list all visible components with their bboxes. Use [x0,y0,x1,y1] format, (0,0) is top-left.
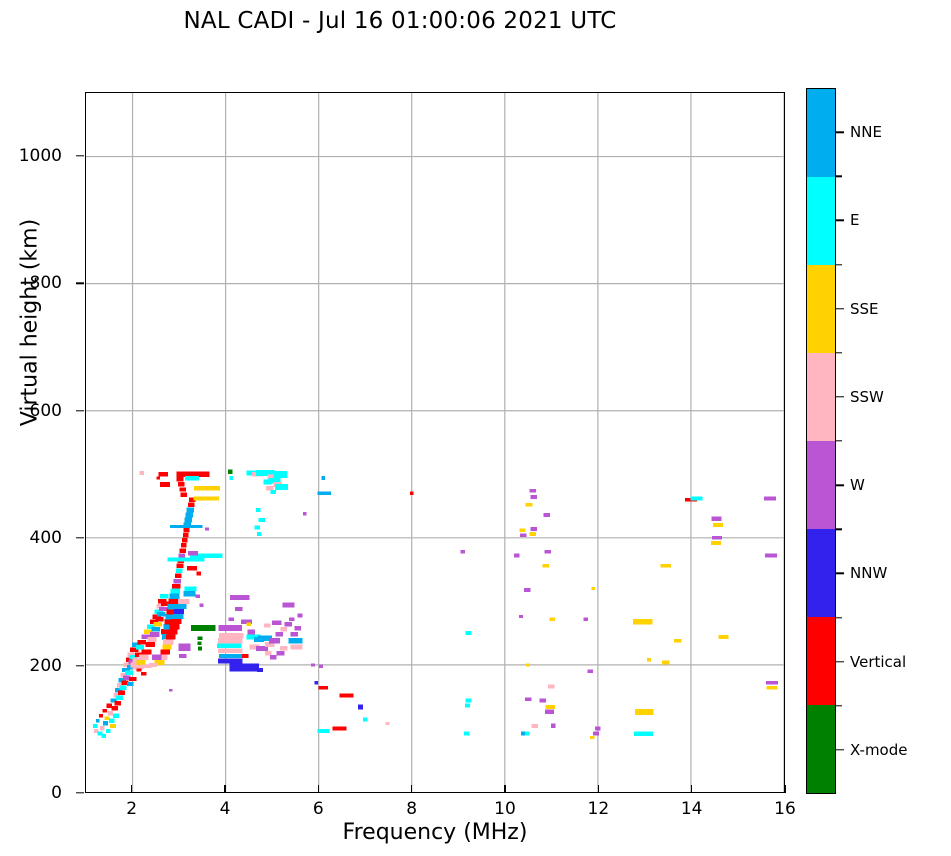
x-tick-label: 8 [406,799,417,819]
echo-mark [188,503,195,507]
x-tick-mark [224,785,225,793]
echo-mark [314,681,318,684]
colorbar-tick [836,220,844,221]
echo-mark [311,663,315,666]
echo-mark [102,709,107,713]
echo-mark [514,554,520,558]
x-tick-mark [784,785,785,793]
echo-mark [464,732,470,736]
echo-mark [179,553,186,557]
colorbar-label-nne: NNE [850,123,882,141]
echo-mark [583,617,588,621]
colorbar-boundary-tick [836,440,842,441]
echo-mark [289,617,295,621]
echo-mark [102,734,106,738]
echo-mark [275,632,282,636]
echo-mark [156,476,160,479]
echo-mark [257,532,262,536]
echo-mark [175,574,182,578]
echo-mark [141,664,151,668]
echo-mark [187,566,197,570]
y-tick-mark [76,537,84,538]
echo-mark [171,619,181,624]
echo-mark [185,476,199,480]
echo-mark [103,721,108,725]
echo-mark [545,710,554,714]
echo-mark [152,655,161,660]
echo-mark [298,613,303,617]
x-tick-label: 6 [313,799,324,819]
echo-mark [410,491,413,495]
echo-mark [294,626,301,630]
colorbar-label-w: W [850,476,865,494]
echo-mark [690,497,702,501]
echo-mark [218,649,242,653]
echo-mark [127,682,134,686]
echo-mark [662,660,669,664]
echo-mark [259,518,266,522]
echo-mark [183,591,195,596]
colorbar-segment [807,441,835,529]
echo-mark [186,512,193,517]
x-tick-mark [504,785,505,793]
echo-mark [290,645,302,650]
echo-mark [112,706,119,710]
echo-mark [139,655,148,660]
colorbar-segment [807,265,835,353]
echo-mark [288,638,302,644]
echo-mark [107,711,113,715]
echo-mark [198,646,202,650]
echo-mark [198,636,203,640]
y-tick-mark [76,282,84,283]
echo-mark [96,719,100,723]
echo-mark [125,670,133,674]
y-tick-label: 200 [30,656,62,676]
echo-mark [168,599,178,605]
echo-mark [765,554,777,558]
echo-mark [118,691,125,695]
echo-mark [196,571,201,575]
echo-mark [531,724,538,728]
echo-mark [526,503,533,507]
x-tick-mark [598,785,599,793]
echo-mark [543,513,550,517]
echo-mark [138,640,146,644]
echo-mark [179,643,191,651]
echo-mark [263,479,271,484]
x-tick-label: 2 [126,799,137,819]
colorbar-boundary-tick [836,352,842,353]
echo-mark [205,527,209,530]
echo-mark [526,663,530,666]
echo-mark [591,587,595,590]
echo-mark [285,622,292,626]
echo-mark [217,644,241,648]
echo-mark [160,482,170,487]
echo-mark [525,697,532,701]
x-tick-label: 14 [681,799,703,819]
echo-mark [160,594,168,598]
echo-mark [155,617,163,621]
echo-mark [136,660,145,665]
echo-mark [106,703,112,707]
echo-mark [264,624,271,628]
colorbar-boundary-tick [836,529,842,530]
colorbar-tick [836,131,844,132]
echo-mark [141,650,151,655]
echo-mark [169,689,173,692]
colorbar-label-ssw: SSW [850,388,884,406]
echo-mark [319,665,323,668]
echo-mark [167,604,177,610]
echo-mark [185,586,197,590]
colorbar-segment [807,617,835,705]
echo-mark [229,476,233,480]
echo-mark [549,617,555,621]
echo-mark [153,622,161,626]
colorbar-label-x-mode: X-mode [850,741,907,759]
echo-mark [544,550,551,554]
colorbar-tick [836,749,844,750]
ionogram-canvas [86,93,784,792]
echo-mark [764,497,776,501]
echo-mark [270,490,276,494]
echo-mark [633,619,653,625]
echo-mark [661,564,671,568]
echo-mark [546,705,555,709]
echo-mark [177,477,184,481]
y-tick-label: 0 [51,783,62,803]
colorbar-boundary-tick [836,176,842,177]
colorbar-label-e: E [850,211,859,229]
echo-mark [551,724,556,728]
echo-mark [219,633,243,638]
echo-mark [713,523,723,527]
echo-mark [276,651,284,655]
echo-mark [766,686,777,690]
echo-mark [530,495,537,499]
echo-mark [647,658,651,661]
echo-mark [113,714,119,718]
colorbar-segment [807,353,835,441]
echo-mark [317,729,329,733]
echo-mark [465,704,470,708]
echo-mark [269,638,280,643]
echo-mark [272,621,281,625]
echo-mark [219,654,243,658]
echo-mark [200,604,204,607]
echo-mark [180,548,187,552]
echo-mark [595,727,601,731]
echo-mark [193,497,219,501]
echo-mark [140,471,145,475]
echo-mark [319,686,328,690]
echo-mark [141,672,147,675]
echo-mark [198,641,202,645]
y-axis-label: Virtual height (km) [18,193,43,453]
echo-mark [159,607,167,611]
colorbar-tick [836,661,844,662]
echo-mark [718,635,728,639]
echo-mark [188,551,198,555]
echo-mark [333,727,347,731]
echo-mark [180,487,187,491]
echo-mark [634,731,653,735]
echo-mark [179,654,186,658]
echo-mark [274,471,288,478]
echo-mark [321,476,325,480]
echo-mark [525,732,530,736]
echo-mark [182,538,188,542]
x-tick-label: 12 [588,799,610,819]
echo-mark [110,724,116,728]
echo-mark [109,719,115,723]
echo-mark [116,696,123,700]
x-tick-label: 10 [494,799,516,819]
echo-mark [174,609,184,614]
echo-mark [548,685,555,689]
echo-mark [137,668,142,671]
echo-mark [386,722,390,725]
echo-mark [178,599,189,604]
echo-mark [184,528,190,532]
y-tick-label: 400 [30,528,62,548]
colorbar-segment [807,89,835,177]
echo-mark [185,517,192,522]
echo-mark [266,486,273,490]
echo-mark [195,594,200,598]
echo-mark [363,718,368,722]
echo-mark [590,736,595,739]
echo-mark [275,484,288,490]
echo-mark [530,527,537,531]
echo-mark [270,655,277,659]
ionogram-plot [85,92,785,793]
echo-mark [317,491,331,495]
echo-mark [766,681,778,685]
echo-mark [176,604,186,609]
page-title: NAL CADI - Jul 16 01:00:06 2021 UTC [0,8,800,34]
echo-mark [136,645,144,649]
echo-mark [529,489,536,493]
echo-mark [540,699,547,703]
x-tick-label: 4 [220,799,231,819]
echo-mark [235,607,242,611]
echo-mark [166,634,175,639]
echo-mark [169,624,179,629]
echo-mark [180,492,187,496]
echo-mark [674,639,681,643]
echo-mark [170,525,203,528]
echo-mark [178,482,185,486]
echo-mark [265,651,272,655]
echo-mark [593,732,599,736]
echo-mark [228,470,233,474]
echo-mark [254,526,260,530]
echo-mark [183,533,189,537]
echo-mark [159,472,168,476]
colorbar-segment [807,177,835,265]
echo-mark [282,603,294,608]
colorbar-labels: NNEESSESSWWNNWVerticalX-mode [836,88,946,794]
echo-mark [529,532,536,536]
echo-mark [247,622,252,626]
echo-mark [120,686,127,690]
echo-mark [99,714,103,718]
echo-mark [291,632,298,636]
echo-mark [520,528,526,532]
y-tick-mark [76,665,84,666]
colorbar-tick [836,396,844,397]
colorbar [806,88,836,794]
echo-mark [519,615,523,618]
echo-mark [173,579,180,583]
colorbar-label-sse: SSE [850,300,879,318]
colorbar-label-vertical: Vertical [850,653,906,671]
echo-mark [281,627,288,631]
x-axis-label: Frequency (MHz) [85,820,785,845]
echo-mark [167,629,177,634]
echo-mark [256,508,261,512]
echo-mark [466,631,472,635]
colorbar-boundary-tick [836,617,842,618]
echo-mark [461,550,466,554]
echo-mark [173,614,183,619]
echo-mark [466,699,472,703]
colorbar-tick [836,573,844,574]
y-tick-mark [76,792,84,793]
echo-mark [229,663,259,671]
echo-mark [177,564,184,568]
echo-mark [218,659,242,664]
colorbar-tick [836,308,844,309]
echo-mark [242,654,249,658]
echo-mark [147,637,156,642]
echo-mark [588,669,594,673]
echo-mark [194,486,220,490]
echo-mark [181,543,187,547]
echo-mark [358,704,363,709]
echo-mark [176,569,183,573]
echo-mark [114,701,121,705]
echo-mark [164,639,173,644]
echo-mark [712,536,722,540]
echo-mark [93,724,98,728]
x-tick-mark [131,785,132,793]
echo-mark [129,677,136,681]
y-tick-mark [76,155,84,156]
x-tick-label: 16 [774,799,796,819]
echo-mark [100,726,105,730]
colorbar-segment [807,705,835,793]
colorbar-label-nnw: NNW [850,564,887,582]
y-tick-mark [76,410,84,411]
echo-mark [219,625,242,631]
echo-mark [169,593,179,599]
echo-mark [520,533,527,537]
echo-mark [280,646,287,650]
echo-mark [230,595,250,600]
echo-mark [162,645,171,650]
echo-mark [187,507,194,512]
colorbar-boundary-tick [836,264,842,265]
y-tick-label: 1000 [19,146,62,166]
x-tick-mark [691,785,692,793]
echo-mark [152,627,160,631]
echo-mark [191,625,215,631]
colorbar-segment [807,529,835,617]
echo-mark [524,588,531,592]
echo-mark [171,589,180,594]
echo-mark [105,716,110,720]
echo-mark [303,512,307,515]
colorbar-boundary-tick [836,705,842,706]
colorbar-tick [836,484,844,485]
echo-mark [228,617,234,621]
echo-mark [106,729,111,733]
echo-mark [160,650,169,655]
echo-mark [218,638,242,643]
echo-mark [711,541,721,545]
echo-mark [247,629,254,634]
echo-mark [542,564,549,568]
echo-mark [172,584,180,588]
echo-mark [257,668,263,672]
echo-mark [150,632,159,637]
echo-mark [157,612,165,616]
echo-mark [635,709,654,715]
x-tick-mark [318,785,319,793]
echo-mark [167,558,204,562]
echo-mark [146,642,155,647]
echo-mark [711,517,721,521]
echo-mark [340,694,354,698]
x-tick-mark [411,785,412,793]
